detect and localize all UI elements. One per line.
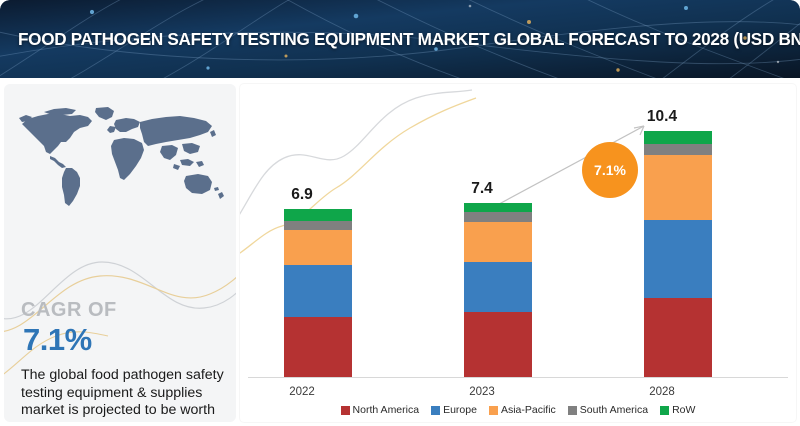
- summary-panel: CAGR OF 7.1% The global food pathogen sa…: [4, 84, 236, 422]
- bar-segment-north-america[interactable]: [464, 312, 532, 377]
- cagr-value: 7.1%: [23, 322, 92, 358]
- bar-total-label: 10.4: [612, 108, 712, 126]
- x-axis-label: 2028: [612, 386, 712, 398]
- page-title: FOOD PATHOGEN SAFETY TESTING EQUIPMENT M…: [18, 0, 800, 78]
- bar-segment-europe[interactable]: [464, 262, 532, 312]
- chart-panel: 6.9 2022 7.4: [240, 84, 796, 422]
- cagr-callout-bubble[interactable]: 7.1%: [582, 142, 638, 198]
- stacked-bar-2023[interactable]: [464, 203, 532, 377]
- legend-swatch-icon: [431, 406, 440, 415]
- legend-item-south-america[interactable]: South America: [568, 404, 648, 416]
- bar-segment-south-america[interactable]: [644, 144, 712, 155]
- plot-area: 6.9 2022 7.4: [240, 84, 796, 422]
- summary-description: The global food pathogen safety testing …: [21, 367, 227, 422]
- x-axis-label: 2022: [252, 386, 352, 398]
- stacked-bar-2028[interactable]: [644, 131, 712, 377]
- bar-segment-row[interactable]: [284, 209, 352, 221]
- bar-segment-row[interactable]: [644, 131, 712, 144]
- legend-label: Europe: [443, 404, 477, 416]
- legend-label: South America: [580, 404, 648, 416]
- legend-swatch-icon: [660, 406, 669, 415]
- legend-item-asia-pacific[interactable]: Asia-Pacific: [489, 404, 556, 416]
- bar-segment-north-america[interactable]: [284, 317, 352, 377]
- bar-segment-asia-pacific[interactable]: [644, 155, 712, 220]
- bar-segment-row[interactable]: [464, 203, 532, 212]
- legend-label: Asia-Pacific: [501, 404, 556, 416]
- legend-swatch-icon: [489, 406, 498, 415]
- x-axis-line: [248, 377, 788, 378]
- header-banner: FOOD PATHOGEN SAFETY TESTING EQUIPMENT M…: [0, 0, 800, 78]
- bar-segment-north-america[interactable]: [644, 298, 712, 377]
- bar-segment-europe[interactable]: [644, 220, 712, 298]
- legend-item-row[interactable]: RoW: [660, 404, 695, 416]
- legend-swatch-icon: [341, 406, 350, 415]
- cagr-label: CAGR OF: [21, 299, 117, 322]
- bar-segment-south-america[interactable]: [284, 221, 352, 230]
- chart-legend: North America Europe Asia-Pacific South …: [240, 404, 796, 416]
- bar-total-label: 6.9: [252, 186, 352, 204]
- bar-segment-south-america[interactable]: [464, 212, 532, 222]
- legend-item-europe[interactable]: Europe: [431, 404, 477, 416]
- infographic-root: FOOD PATHOGEN SAFETY TESTING EQUIPMENT M…: [0, 0, 800, 426]
- legend-label: North America: [353, 404, 420, 416]
- legend-item-north-america[interactable]: North America: [341, 404, 420, 416]
- stacked-bar-2022[interactable]: [284, 209, 352, 377]
- bar-segment-asia-pacific[interactable]: [284, 230, 352, 265]
- legend-label: RoW: [672, 404, 695, 416]
- world-map-icon: [14, 102, 228, 212]
- x-axis-label: 2023: [432, 386, 532, 398]
- bar-total-label: 7.4: [432, 180, 532, 198]
- bar-segment-asia-pacific[interactable]: [464, 222, 532, 262]
- bar-segment-europe[interactable]: [284, 265, 352, 317]
- legend-swatch-icon: [568, 406, 577, 415]
